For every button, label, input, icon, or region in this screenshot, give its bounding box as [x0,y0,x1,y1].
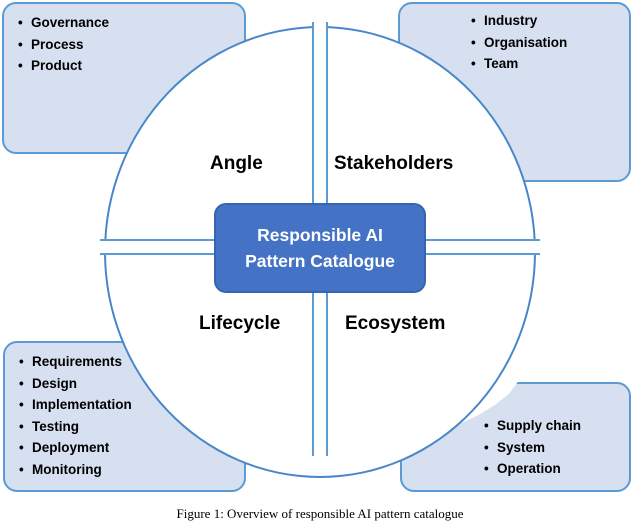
responsible-ai-pattern-catalogue-figure: Governance Process Product Industry Orga… [0,0,640,516]
list-item: Monitoring [19,459,244,481]
figure-caption: Figure 1: Overview of responsible AI pat… [0,506,640,522]
quadrant-label-lifecycle: Lifecycle [199,313,280,335]
quadrant-label-stakeholders: Stakeholders [334,153,453,175]
list-item: Operation [484,458,629,480]
list-item: Team [471,53,629,75]
list-item: Governance [18,12,244,34]
list-item: Industry [471,10,629,32]
list-item: Supply chain [484,415,629,437]
list-item: System [484,437,629,459]
quadrant-label-angle: Angle [210,153,263,175]
center-node: Responsible AI Pattern Catalogue [214,203,426,293]
list-item: Organisation [471,32,629,54]
center-title-line1: Responsible AI [257,222,383,248]
quadrant-label-ecosystem: Ecosystem [345,313,445,335]
center-title-line2: Pattern Catalogue [245,248,395,274]
list-item: Process [18,34,244,56]
